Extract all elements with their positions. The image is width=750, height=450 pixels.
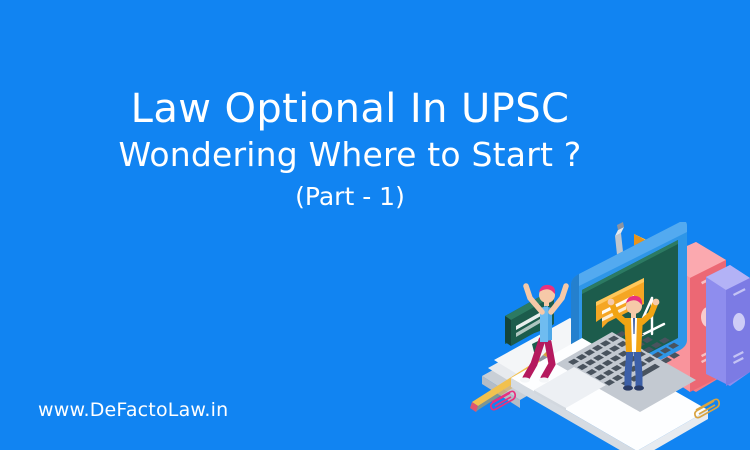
site-url-text: www.DeFactoLaw.in — [38, 398, 228, 422]
part-label: (Part - 1) — [0, 180, 700, 214]
elearning-illustration — [448, 222, 750, 450]
illustration-svg — [448, 222, 750, 450]
headline-block: Law Optional In UPSC Wondering Where to … — [0, 86, 700, 214]
page-title: Law Optional In UPSC — [0, 86, 700, 132]
promo-banner: Law Optional In UPSC Wondering Where to … — [0, 0, 750, 450]
page-subtitle: Wondering Where to Start ? — [0, 134, 700, 176]
book-purple-icon — [706, 265, 750, 386]
